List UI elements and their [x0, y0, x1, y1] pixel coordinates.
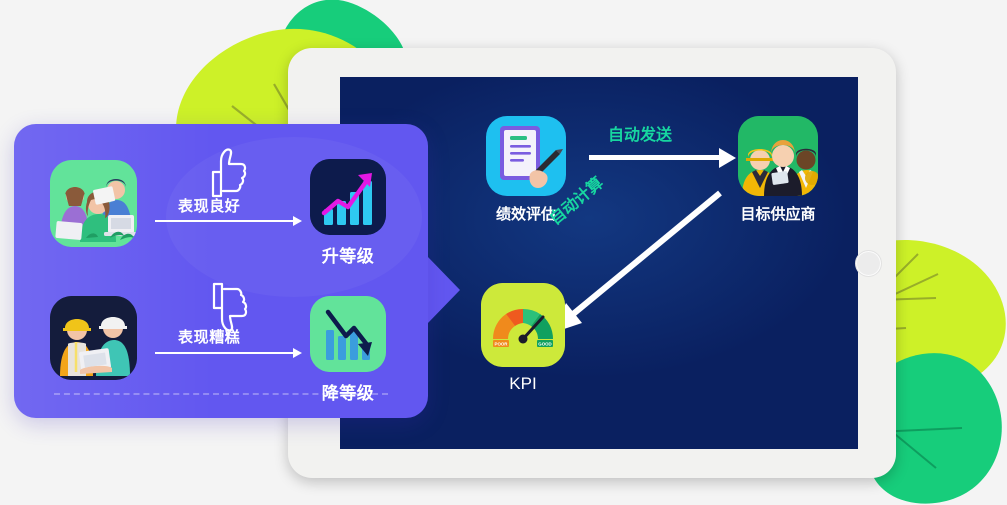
chart-rising-icon[interactable]	[310, 159, 386, 235]
supplier-rating-rules-panel: 表现良好 升等级	[14, 124, 428, 418]
poor-performance-arrow-line	[155, 352, 294, 354]
thumbs-up-icon	[199, 146, 249, 198]
auto-send-arrow-head	[719, 148, 736, 168]
illustration-canvas: 绩效评估 自动发送	[0, 0, 1007, 505]
kpi-gauge-icon[interactable]: POOR GOOD	[481, 283, 565, 367]
construction-workers-photo-icon[interactable]	[50, 296, 137, 380]
panel-pointer	[427, 256, 460, 324]
good-performance-arrow-head	[293, 216, 302, 226]
svg-text:GOOD: GOOD	[538, 342, 551, 347]
home-button[interactable]	[855, 250, 882, 277]
upgrade-label: 升等级	[278, 242, 418, 267]
poor-performance-arrow-head	[293, 348, 302, 358]
team-meeting-photo-icon[interactable]	[50, 160, 137, 247]
auto-send-label: 自动发送	[608, 121, 672, 145]
supplier-team-icon[interactable]	[738, 116, 818, 196]
good-performance-arrow-line	[155, 220, 294, 222]
good-performance-label: 表现良好	[178, 195, 240, 216]
target-supplier-label: 目标供应商	[723, 203, 833, 224]
svg-text:POOR: POOR	[495, 342, 509, 347]
downgrade-label: 降等级	[278, 379, 418, 404]
kpi-label: KPI	[468, 374, 578, 394]
chart-falling-icon[interactable]	[310, 296, 386, 372]
poor-performance-label: 表现糟糕	[178, 326, 240, 347]
auto-send-arrow-line	[589, 155, 719, 160]
